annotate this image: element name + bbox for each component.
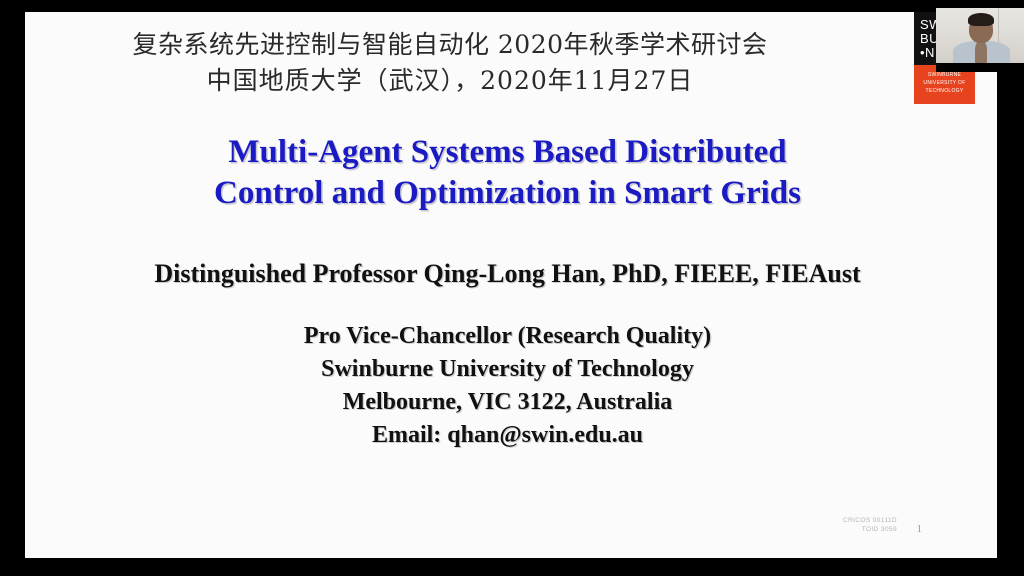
conference-header-line-1: 复杂系统先进控制与智能自动化 2020年秋季学术研讨会 <box>25 27 875 63</box>
page-title: Multi-Agent Systems Based Distributed Co… <box>25 132 990 214</box>
affiliation-line-organisation: Swinburne University of Technology <box>25 353 990 386</box>
conference-header: 复杂系统先进控制与智能自动化 2020年秋季学术研讨会 中国地质大学（武汉），2… <box>25 27 875 99</box>
webcam-letterbox-bottom <box>936 63 1024 72</box>
logo-word-line-2: UNIVERSITY OF <box>914 79 975 87</box>
slide-page-number: 1 <box>917 523 923 535</box>
page-title-line-1: Multi-Agent Systems Based Distributed <box>25 132 990 173</box>
slide-canvas: 复杂系统先进控制与智能自动化 2020年秋季学术研讨会 中国地质大学（武汉），2… <box>25 12 997 558</box>
webcam-letterbox-top <box>936 0 1024 8</box>
logo-word-line-3: TECHNOLOGY <box>914 87 975 95</box>
affiliation-line-location: Melbourne, VIC 3122, Australia <box>25 386 990 419</box>
page-title-line-2: Control and Optimization in Smart Grids <box>25 173 990 214</box>
presentation-screen: 复杂系统先进控制与智能自动化 2020年秋季学术研讨会 中国地质大学（武汉），2… <box>0 0 1024 576</box>
cricos-code: CRICOS 00111D <box>843 516 897 525</box>
toid-code: TOID 3059 <box>843 525 897 534</box>
speaker-affiliation: Pro Vice-Chancellor (Research Quality) S… <box>25 320 990 452</box>
conference-header-line-2: 中国地质大学（武汉），2020年11月27日 <box>25 63 875 99</box>
presenter-hair <box>968 13 994 26</box>
speaker-name: Distinguished Professor Qing-Long Han, P… <box>25 258 990 290</box>
presenter-collar <box>975 41 987 63</box>
registration-codes: CRICOS 00111D TOID 3059 <box>843 516 897 534</box>
affiliation-line-email: Email: qhan@swin.edu.au <box>25 419 990 452</box>
affiliation-line-role: Pro Vice-Chancellor (Research Quality) <box>25 320 990 353</box>
presenter-webcam-video[interactable] <box>936 0 1024 72</box>
logo-word-line-1: SWINBURNE <box>914 71 975 79</box>
